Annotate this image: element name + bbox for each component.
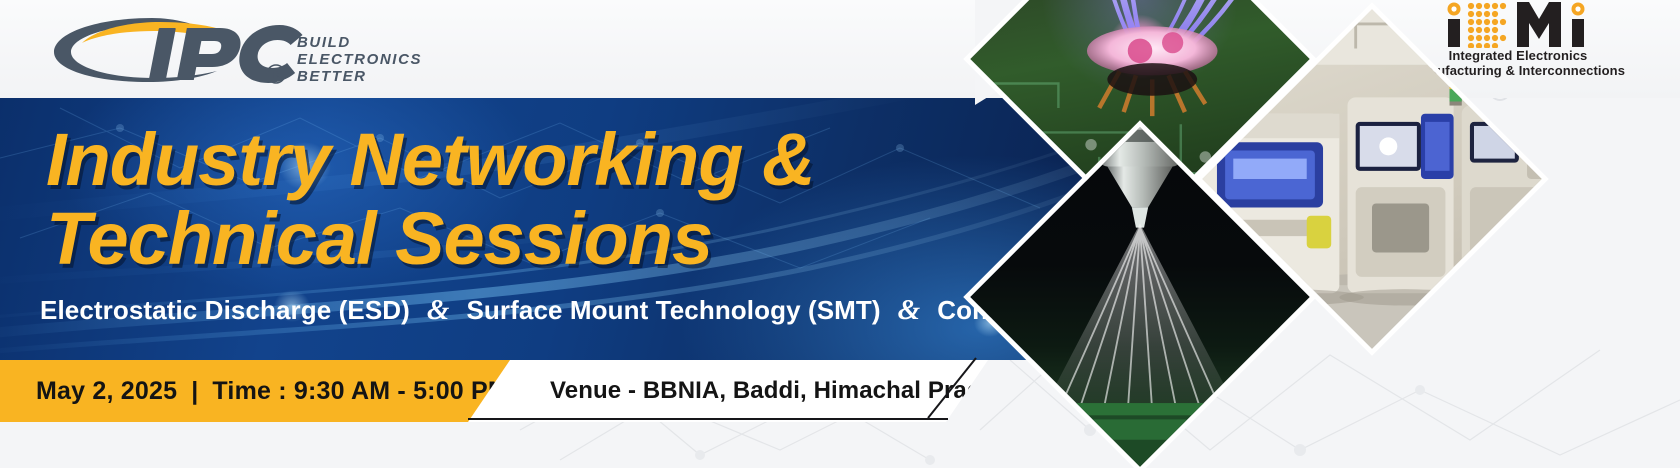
ipc-tagline: BUILD ELECTRONICS BETTER [297, 34, 422, 85]
ipc-tagline-line3: BETTER [297, 68, 422, 85]
topic-separator-2: & [881, 294, 938, 327]
event-time: Time : 9:30 AM - 5:00 PM [212, 377, 509, 406]
main-blue-panel: Industry Networking & Technical Sessions… [0, 98, 1105, 360]
date-time-bar: May 2, 2025 | Time : 9:30 AM - 5:00 PM [0, 360, 515, 422]
topics-list: Electrostatic Discharge (ESD) & Surface … [40, 294, 1105, 327]
svg-text:R: R [272, 69, 280, 81]
venue-bar: Venue - BBNIA, Baddi, Himachal Pradesh [468, 360, 988, 422]
event-title: Industry Networking & Technical Sessions [46, 120, 1046, 278]
event-banner: R BUILD ELECTRONICS BETTER [0, 0, 1680, 468]
topic-smt: Surface Mount Technology (SMT) [466, 295, 880, 326]
venue-underline [468, 418, 948, 420]
event-venue: Venue - BBNIA, Baddi, Himachal Pradesh [550, 377, 1023, 405]
image-cluster [975, 0, 1680, 468]
ipc-logo[interactable]: R BUILD ELECTRONICS BETTER [44, 12, 384, 86]
ipc-tagline-line2: ELECTRONICS [297, 51, 422, 68]
topic-separator-1: & [410, 294, 467, 327]
ipc-tagline-line1: BUILD [297, 34, 422, 51]
date-time-separator: | [191, 377, 198, 406]
topic-esd: Electrostatic Discharge (ESD) [40, 295, 410, 326]
event-title-line2: Technical Sessions [46, 199, 1046, 278]
event-date: May 2, 2025 [36, 377, 177, 406]
event-title-line1: Industry Networking & [46, 120, 1046, 199]
